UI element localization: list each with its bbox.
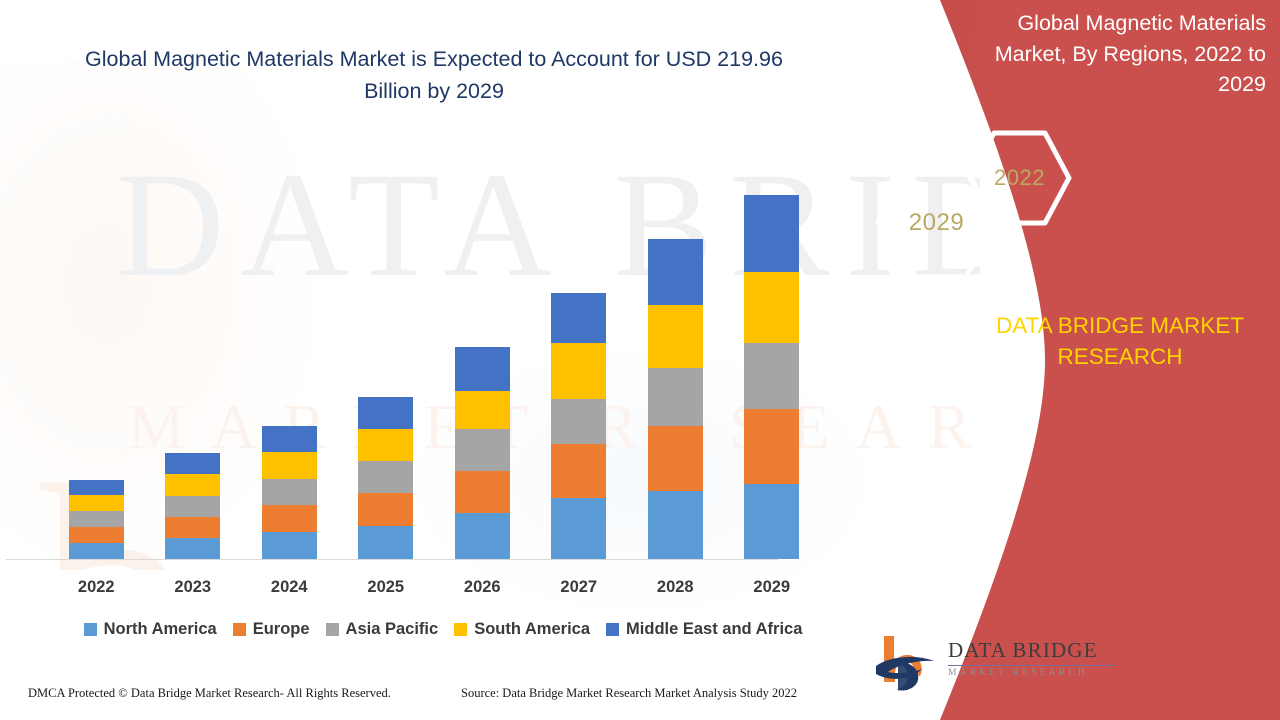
bar-segment: [358, 526, 413, 559]
footer-dmca-notice: DMCA Protected © Data Bridge Market Rese…: [28, 686, 391, 701]
bar-segment: [551, 293, 606, 343]
hexagon-outline-icon: [967, 130, 1072, 226]
bar-segment: [648, 368, 703, 427]
x-axis-tick-2027: 2027: [551, 578, 606, 597]
page-title: Global Magnetic Materials Market is Expe…: [64, 44, 804, 108]
bar-2029: [744, 195, 799, 559]
legend-label: Europe: [253, 620, 310, 639]
right-red-panel: Global Magnetic Materials Market, By Reg…: [840, 0, 1280, 720]
bar-segment: [69, 511, 124, 527]
legend-swatch-icon: [606, 623, 619, 636]
hexagon-outline-icon: [874, 165, 999, 280]
bar-segment: [262, 532, 317, 559]
x-axis-tick-2028: 2028: [648, 578, 703, 597]
bar-segment: [165, 517, 220, 538]
bar-2022: [69, 480, 124, 559]
x-axis-line: [6, 559, 778, 560]
bar-2028: [648, 239, 703, 559]
bar-2025: [358, 397, 413, 559]
legend-swatch-icon: [326, 623, 339, 636]
x-axis-tick-2029: 2029: [744, 578, 799, 597]
bar-segment: [69, 543, 124, 559]
bar-segment: [69, 495, 124, 511]
stacked-bar-chart: [48, 160, 820, 559]
x-axis-labels: 20222023202420252026202720282029: [48, 574, 820, 600]
bar-segment: [744, 272, 799, 343]
bar-segment: [744, 409, 799, 484]
logo-tagline: MARKET RESEARCH: [948, 669, 1118, 679]
legend-item[interactable]: South America: [454, 620, 590, 639]
bar-segment: [69, 480, 124, 495]
bar-segment: [455, 347, 510, 392]
bar-segment: [648, 305, 703, 368]
x-axis-tick-2022: 2022: [69, 578, 124, 597]
hexagon-2029-label: 2029: [909, 209, 964, 237]
bar-segment: [358, 397, 413, 429]
x-axis-tick-2026: 2026: [455, 578, 510, 597]
hexagon-2022-label: 2022: [994, 165, 1045, 191]
bar-segment: [455, 429, 510, 471]
logo-text: DATA BRIDGE MARKET RESEARCH: [948, 640, 1118, 679]
brand-name-text: DATA BRIDGE MARKET RESEARCH: [970, 310, 1270, 372]
logo-mark-icon: [868, 632, 940, 694]
chart-legend: North AmericaEuropeAsia PacificSouth Ame…: [48, 616, 838, 642]
data-bridge-logo: DATA BRIDGE MARKET RESEARCH: [868, 632, 1120, 694]
bar-segment: [358, 493, 413, 526]
bar-2027: [551, 293, 606, 559]
chart-bars: [48, 160, 820, 559]
right-panel-title: Global Magnetic Materials Market, By Reg…: [978, 8, 1266, 100]
hexagon-2029: 2029: [874, 165, 999, 280]
bar-segment: [551, 498, 606, 559]
right-panel-content: Global Magnetic Materials Market, By Reg…: [840, 0, 1280, 720]
infographic-canvas: b DATA BRIDGE MARKET RESEARCH Global Mag…: [0, 0, 1280, 720]
bar-segment: [262, 505, 317, 532]
bar-segment: [358, 461, 413, 493]
x-axis-tick-2023: 2023: [165, 578, 220, 597]
x-axis-tick-2024: 2024: [262, 578, 317, 597]
logo-divider: [948, 665, 1116, 666]
bar-segment: [648, 491, 703, 559]
bar-segment: [165, 453, 220, 474]
bar-segment: [358, 429, 413, 461]
bar-segment: [648, 426, 703, 491]
legend-swatch-icon: [454, 623, 467, 636]
bar-segment: [262, 426, 317, 452]
hexagon-group: 2022 2029: [840, 0, 1280, 300]
bar-segment: [551, 399, 606, 444]
bar-2026: [455, 347, 510, 559]
legend-swatch-icon: [233, 623, 246, 636]
legend-label: South America: [474, 620, 590, 639]
bar-segment: [262, 452, 317, 479]
bar-segment: [455, 471, 510, 513]
legend-item[interactable]: Asia Pacific: [326, 620, 439, 639]
legend-item[interactable]: Europe: [233, 620, 310, 639]
bar-segment: [455, 513, 510, 559]
bar-segment: [744, 484, 799, 559]
legend-label: North America: [104, 620, 217, 639]
logo-name: DATA BRIDGE: [948, 640, 1118, 661]
bar-segment: [165, 538, 220, 559]
bar-2024: [262, 426, 317, 559]
red-shape-shadow: [840, 0, 1280, 720]
bar-segment: [455, 391, 510, 429]
bar-segment: [744, 343, 799, 410]
legend-label: Asia Pacific: [346, 620, 439, 639]
bar-segment: [165, 474, 220, 496]
bar-segment: [744, 195, 799, 272]
footer-source-note: Source: Data Bridge Market Research Mark…: [461, 686, 797, 701]
legend-item[interactable]: Middle East and Africa: [606, 620, 802, 639]
bar-segment: [551, 444, 606, 498]
hexagon-2022: 2022: [967, 130, 1072, 226]
legend-label: Middle East and Africa: [626, 620, 802, 639]
bar-segment: [262, 479, 317, 505]
bar-segment: [165, 496, 220, 517]
legend-item[interactable]: North America: [84, 620, 217, 639]
x-axis-tick-2025: 2025: [358, 578, 413, 597]
bar-2023: [165, 453, 220, 559]
legend-swatch-icon: [84, 623, 97, 636]
bar-segment: [648, 239, 703, 305]
bar-segment: [69, 527, 124, 543]
red-shape: [840, 0, 1280, 720]
bar-segment: [551, 343, 606, 400]
